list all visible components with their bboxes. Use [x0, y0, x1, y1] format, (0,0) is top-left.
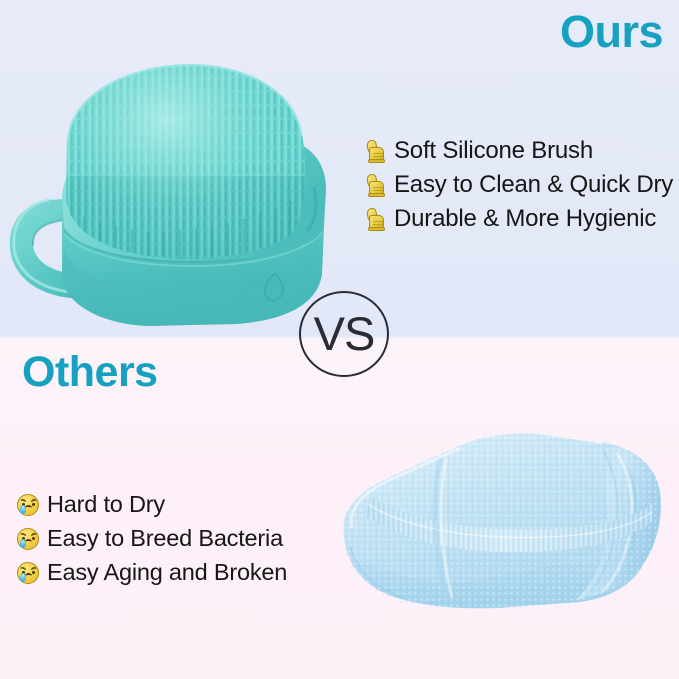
thumbs-up-emoji-icon [366, 174, 387, 197]
feature-label: Easy Aging and Broken [47, 559, 287, 586]
crying-face-emoji-icon [17, 527, 40, 550]
brush-bristle-pad [59, 56, 314, 268]
vs-label: VS [299, 291, 389, 377]
vs-badge: VS [299, 291, 389, 377]
others-feature-list: Hard to Dry Easy to Breed Bacteria Easy … [17, 487, 287, 589]
feature-label: Soft Silicone Brush [394, 137, 593, 165]
ours-heading: Ours [560, 6, 663, 58]
list-item: Soft Silicone Brush [366, 134, 673, 168]
list-item: Easy Aging and Broken [17, 555, 287, 589]
crying-face-emoji-icon [17, 561, 40, 584]
feature-label: Easy to Clean & Quick Dry [394, 171, 673, 199]
feature-label: Hard to Dry [47, 491, 165, 518]
list-item: Easy to Breed Bacteria [17, 521, 287, 555]
list-item: Durable & More Hygienic [366, 202, 673, 236]
feature-label: Durable & More Hygienic [394, 205, 656, 233]
others-heading: Others [22, 347, 158, 397]
list-item: Easy to Clean & Quick Dry [366, 168, 673, 202]
thumbs-up-emoji-icon [366, 208, 387, 231]
thumbs-up-emoji-icon [366, 140, 387, 163]
crying-face-emoji-icon [17, 493, 40, 516]
silicone-brush-image [4, 48, 336, 338]
feature-label: Easy to Breed Bacteria [47, 525, 283, 552]
product-comparison-poster: Ours Soft Silicone Brush Easy to Clean &… [0, 0, 679, 679]
list-item: Hard to Dry [17, 487, 287, 521]
folded-towel-image [330, 418, 678, 626]
ours-feature-list: Soft Silicone Brush Easy to Clean & Quic… [366, 134, 673, 236]
